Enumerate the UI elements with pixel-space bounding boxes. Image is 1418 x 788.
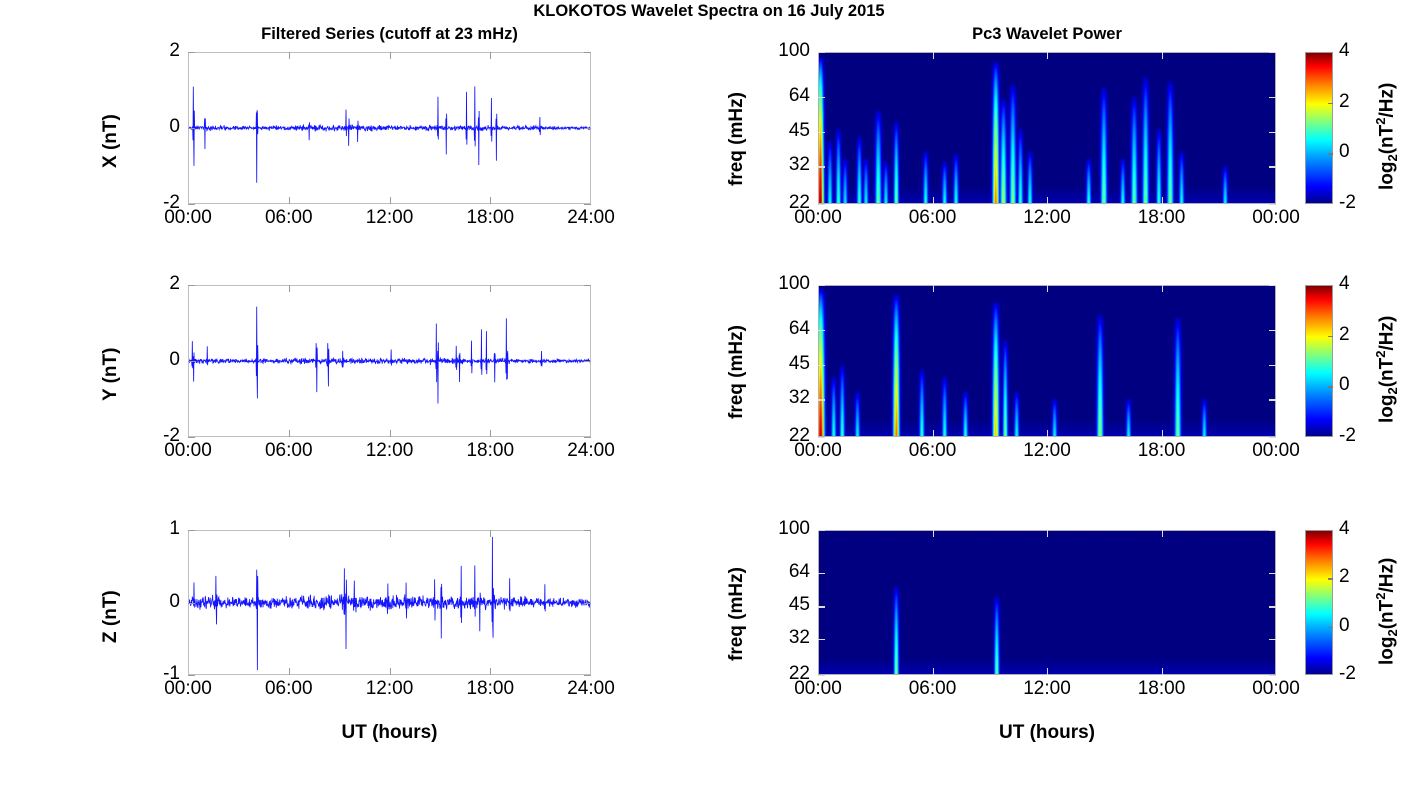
y-tickmark bbox=[818, 639, 825, 640]
freq-axis-label: freq (mHz) bbox=[726, 92, 748, 186]
y-tickmark bbox=[584, 603, 591, 604]
left-column-title: Filtered Series (cutoff at 23 mHz) bbox=[128, 25, 651, 44]
colorbar-tick-label: 0 bbox=[1339, 616, 1350, 635]
y-tickmark bbox=[1269, 675, 1276, 676]
y-tickmark bbox=[1269, 639, 1276, 640]
figure-canvas: KLOKOTOS Wavelet Spectra on 16 July 2015… bbox=[0, 0, 1418, 788]
y-tickmark bbox=[188, 128, 195, 129]
colorbar-label: log2(nT2/Hz) bbox=[1373, 83, 1400, 190]
x-tick-label: 24:00 bbox=[541, 679, 641, 698]
y-tickmark bbox=[584, 52, 591, 53]
x-tickmark bbox=[289, 668, 290, 675]
x-tick-label: 00:00 bbox=[768, 441, 868, 460]
colorbar-tick-label: 2 bbox=[1339, 325, 1350, 344]
y-tickmark bbox=[818, 675, 825, 676]
x-tickmark bbox=[1162, 197, 1163, 204]
y-tickmark bbox=[1269, 132, 1276, 133]
x-tick-label: 12:00 bbox=[997, 441, 1097, 460]
x-tickmark bbox=[1047, 197, 1048, 204]
y-tick-label: 0 bbox=[122, 117, 180, 136]
y-tickmark bbox=[584, 361, 591, 362]
x-tick-label: 06:00 bbox=[239, 679, 339, 698]
colorbar-tickmark bbox=[1328, 336, 1333, 337]
x-tick-label: 12:00 bbox=[997, 208, 1097, 227]
y-tickmark bbox=[188, 530, 195, 531]
y-tick-label: 2 bbox=[122, 274, 180, 293]
timeseries-axes-x bbox=[188, 52, 591, 204]
x-tickmark bbox=[390, 285, 391, 292]
colorbar-tick-label: 2 bbox=[1339, 92, 1350, 111]
y-tickmark bbox=[584, 128, 591, 129]
x-tickmark bbox=[1162, 52, 1163, 59]
y-tick-label: 1 bbox=[122, 519, 180, 538]
y-tickmark bbox=[1269, 330, 1276, 331]
x-tick-label: 06:00 bbox=[883, 441, 983, 460]
colorbar-tick-label: -2 bbox=[1339, 193, 1356, 212]
x-tickmark bbox=[490, 285, 491, 292]
y-tickmark bbox=[818, 530, 825, 531]
x-tickmark bbox=[1047, 52, 1048, 59]
colorbar-tickmark bbox=[1328, 627, 1333, 628]
x-tick-label: 18:00 bbox=[440, 208, 540, 227]
x-tickmark bbox=[289, 285, 290, 292]
x-tickmark bbox=[933, 668, 934, 675]
y-tickmark bbox=[584, 285, 591, 286]
y-tickmark bbox=[1269, 606, 1276, 607]
freq-tick-label: 45 bbox=[752, 595, 810, 614]
y-axis-label: Y (nT) bbox=[100, 348, 122, 401]
x-tickmark bbox=[490, 197, 491, 204]
colorbar bbox=[1305, 530, 1333, 675]
colorbar-tickmark bbox=[1328, 578, 1333, 579]
freq-tick-label: 45 bbox=[752, 354, 810, 373]
x-tick-label: 18:00 bbox=[1112, 679, 1212, 698]
colorbar-label: log2(nT2/Hz) bbox=[1373, 557, 1400, 664]
colorbar-tickmark bbox=[1328, 153, 1333, 154]
figure-suptitle: KLOKOTOS Wavelet Spectra on 16 July 2015 bbox=[0, 2, 1418, 21]
colorbar-tick-label: 0 bbox=[1339, 375, 1350, 394]
x-tick-label: 06:00 bbox=[883, 208, 983, 227]
x-tickmark bbox=[390, 668, 391, 675]
freq-tick-label: 32 bbox=[752, 628, 810, 647]
spectrogram-image bbox=[819, 53, 1275, 203]
y-tickmark bbox=[818, 52, 825, 53]
y-tickmark bbox=[584, 437, 591, 438]
x-tickmark bbox=[933, 52, 934, 59]
y-tickmark bbox=[818, 166, 825, 167]
timeseries-trace bbox=[189, 531, 590, 674]
y-tickmark bbox=[1269, 530, 1276, 531]
x-tickmark bbox=[390, 52, 391, 59]
y-tickmark bbox=[818, 97, 825, 98]
y-axis-label: Z (nT) bbox=[100, 590, 122, 643]
spectrogram-image bbox=[819, 531, 1275, 674]
y-tickmark bbox=[188, 361, 195, 362]
x-tickmark bbox=[933, 197, 934, 204]
x-tick-label: 00:00 bbox=[768, 208, 868, 227]
spectrogram-axes bbox=[818, 285, 1276, 437]
y-tickmark bbox=[818, 365, 825, 366]
y-tickmark bbox=[584, 675, 591, 676]
x-tickmark bbox=[1047, 668, 1048, 675]
x-tick-label: 06:00 bbox=[883, 679, 983, 698]
x-tickmark bbox=[490, 530, 491, 537]
x-tick-label: 24:00 bbox=[541, 441, 641, 460]
x-tickmark bbox=[289, 530, 290, 537]
x-tickmark bbox=[933, 530, 934, 537]
y-tickmark bbox=[818, 399, 825, 400]
x-tickmark bbox=[490, 430, 491, 437]
x-tickmark bbox=[490, 52, 491, 59]
y-tickmark bbox=[818, 330, 825, 331]
colorbar bbox=[1305, 52, 1333, 204]
colorbar-tick-label: -2 bbox=[1339, 664, 1356, 683]
x-tickmark bbox=[933, 285, 934, 292]
y-tickmark bbox=[818, 204, 825, 205]
y-tick-label: 2 bbox=[122, 41, 180, 60]
x-tickmark bbox=[289, 430, 290, 437]
right-x-axis-label: UT (hours) bbox=[927, 722, 1167, 744]
y-tickmark bbox=[584, 530, 591, 531]
x-tick-label: 24:00 bbox=[541, 208, 641, 227]
freq-axis-label: freq (mHz) bbox=[726, 567, 748, 661]
timeseries-axes-y bbox=[188, 285, 591, 437]
x-tickmark bbox=[1047, 430, 1048, 437]
y-tickmark bbox=[1269, 573, 1276, 574]
colorbar-tick-label: 0 bbox=[1339, 142, 1350, 161]
x-tick-label: 12:00 bbox=[997, 679, 1097, 698]
y-tickmark bbox=[818, 132, 825, 133]
y-tickmark bbox=[1269, 204, 1276, 205]
x-tick-label: 18:00 bbox=[440, 441, 540, 460]
freq-axis-label: freq (mHz) bbox=[726, 325, 748, 419]
x-tick-label: 00:00 bbox=[138, 208, 238, 227]
freq-tick-label: 32 bbox=[752, 388, 810, 407]
x-tickmark bbox=[289, 197, 290, 204]
freq-tick-label: 100 bbox=[752, 519, 810, 538]
x-tick-label: 18:00 bbox=[440, 679, 540, 698]
right-column-title: Pc3 Wavelet Power bbox=[758, 25, 1336, 44]
x-tick-label: 00:00 bbox=[768, 679, 868, 698]
x-tickmark bbox=[933, 430, 934, 437]
x-tickmark bbox=[289, 52, 290, 59]
left-x-axis-label: UT (hours) bbox=[270, 722, 510, 744]
x-tick-label: 00:00 bbox=[1226, 441, 1326, 460]
x-tick-label: 00:00 bbox=[138, 441, 238, 460]
spectrogram-axes bbox=[818, 52, 1276, 204]
spectrogram-axes bbox=[818, 530, 1276, 675]
y-tickmark bbox=[818, 606, 825, 607]
timeseries-trace bbox=[189, 53, 590, 203]
colorbar-tick-label: 4 bbox=[1339, 41, 1350, 60]
y-tickmark bbox=[818, 573, 825, 574]
freq-tick-label: 100 bbox=[752, 274, 810, 293]
y-tick-label: 0 bbox=[122, 350, 180, 369]
colorbar-tickmark bbox=[1328, 103, 1333, 104]
x-tickmark bbox=[1162, 430, 1163, 437]
y-axis-label: X (nT) bbox=[100, 114, 122, 168]
x-tick-label: 06:00 bbox=[239, 441, 339, 460]
x-tickmark bbox=[490, 668, 491, 675]
timeseries-axes-z bbox=[188, 530, 591, 675]
x-tick-label: 18:00 bbox=[1112, 441, 1212, 460]
x-tick-label: 00:00 bbox=[1226, 679, 1326, 698]
x-tick-label: 12:00 bbox=[340, 208, 440, 227]
x-tickmark bbox=[1162, 530, 1163, 537]
colorbar bbox=[1305, 285, 1333, 437]
colorbar-tick-label: 4 bbox=[1339, 274, 1350, 293]
colorbar-tick-label: -2 bbox=[1339, 426, 1356, 445]
y-tickmark bbox=[1269, 399, 1276, 400]
freq-tick-label: 64 bbox=[752, 319, 810, 338]
x-tickmark bbox=[390, 530, 391, 537]
freq-tick-label: 45 bbox=[752, 121, 810, 140]
y-tickmark bbox=[188, 204, 195, 205]
x-tickmark bbox=[1162, 285, 1163, 292]
y-tickmark bbox=[188, 285, 195, 286]
y-tickmark bbox=[188, 52, 195, 53]
x-tickmark bbox=[1047, 530, 1048, 537]
x-tick-label: 12:00 bbox=[340, 441, 440, 460]
y-tickmark bbox=[188, 675, 195, 676]
spectrogram-image bbox=[819, 286, 1275, 436]
x-tickmark bbox=[390, 430, 391, 437]
x-tick-label: 18:00 bbox=[1112, 208, 1212, 227]
colorbar-tickmark bbox=[1328, 386, 1333, 387]
x-tick-label: 00:00 bbox=[1226, 208, 1326, 227]
y-tickmark bbox=[1269, 52, 1276, 53]
freq-tick-label: 64 bbox=[752, 86, 810, 105]
x-tick-label: 12:00 bbox=[340, 679, 440, 698]
x-tickmark bbox=[1162, 668, 1163, 675]
y-tickmark bbox=[1269, 285, 1276, 286]
x-tickmark bbox=[390, 197, 391, 204]
y-tickmark bbox=[818, 285, 825, 286]
y-tick-label: 0 bbox=[122, 592, 180, 611]
freq-tick-label: 64 bbox=[752, 562, 810, 581]
freq-tick-label: 32 bbox=[752, 155, 810, 174]
x-tick-label: 06:00 bbox=[239, 208, 339, 227]
colorbar-label: log2(nT2/Hz) bbox=[1373, 316, 1400, 423]
y-tickmark bbox=[188, 437, 195, 438]
y-tickmark bbox=[1269, 437, 1276, 438]
y-tickmark bbox=[1269, 97, 1276, 98]
colorbar-tick-label: 4 bbox=[1339, 519, 1350, 538]
y-tickmark bbox=[1269, 166, 1276, 167]
y-tickmark bbox=[818, 437, 825, 438]
y-tickmark bbox=[188, 603, 195, 604]
freq-tick-label: 100 bbox=[752, 41, 810, 60]
y-tickmark bbox=[584, 204, 591, 205]
colorbar-tick-label: 2 bbox=[1339, 567, 1350, 586]
x-tick-label: 00:00 bbox=[138, 679, 238, 698]
y-tickmark bbox=[1269, 365, 1276, 366]
timeseries-trace bbox=[189, 286, 590, 436]
x-tickmark bbox=[1047, 285, 1048, 292]
